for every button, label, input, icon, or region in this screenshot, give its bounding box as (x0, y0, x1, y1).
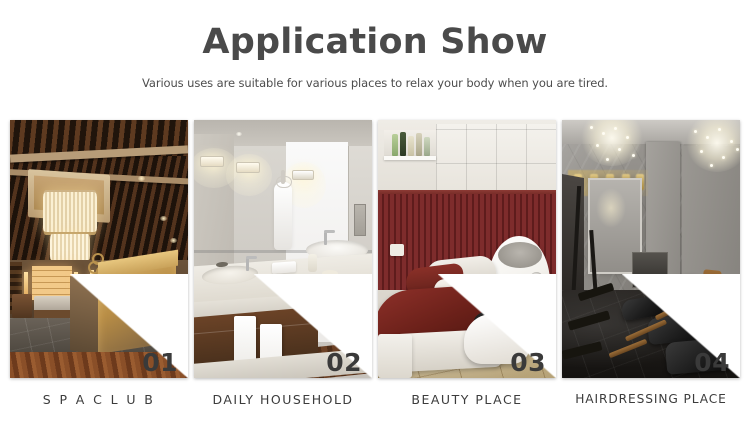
application-card-2[interactable]: 02 DAILY HOUSEHOLD (194, 120, 372, 407)
chandelier-crystals (586, 124, 642, 168)
shoji-screen (32, 266, 72, 300)
amenity-dish (322, 270, 338, 277)
pendant-lantern-top (43, 190, 97, 235)
application-cards-row: 01 S P A C L U B (0, 120, 750, 407)
page-subtitle: Various uses are suitable for various pl… (0, 76, 750, 90)
card-number-badge: 01 (142, 350, 178, 375)
application-card-4[interactable]: 04 HAIRDRESSING PLACE (562, 120, 740, 407)
light-glow-2 (226, 154, 272, 196)
section-header: Application Show Various uses are suitab… (0, 0, 750, 90)
hairdressing-place-salon-photo[interactable]: 04 (562, 120, 740, 378)
application-show-section: Application Show Various uses are suitab… (0, 0, 750, 438)
spa-club-scene (10, 120, 188, 378)
downlight-icon (160, 216, 167, 221)
product-bottle-5 (424, 137, 430, 156)
chandelier-crystals (692, 126, 740, 174)
folded-towels (272, 261, 296, 274)
faucet-reflection (324, 232, 327, 245)
product-bottle-2 (400, 132, 406, 156)
pendant-lantern-middle (50, 234, 90, 262)
application-card-3[interactable]: 03 BEAUTY PLACE (378, 120, 556, 407)
floor-light-glow (106, 296, 162, 306)
beauty-place-shampoo-bed-photo[interactable]: 03 (378, 120, 556, 378)
card-caption: S P A C L U B (10, 392, 188, 407)
wall-niche (354, 204, 366, 236)
shampoo-bowl-knob (530, 272, 543, 285)
hairdressing-salon-scene (562, 120, 740, 378)
bathroom-scene (194, 120, 372, 378)
card-number-badge: 04 (694, 350, 730, 375)
wall-sconce-2 (236, 162, 260, 173)
lobby-armchair (12, 294, 32, 318)
floor-jar (542, 306, 554, 332)
hanging-bathrobe (274, 182, 292, 250)
shampoo-bowl-inner (498, 242, 542, 268)
vanity-faucet (246, 258, 249, 271)
card-number-badge: 02 (326, 350, 362, 375)
wall-tile-panels (436, 124, 556, 198)
amenity-bottle (308, 254, 317, 272)
application-card-1[interactable]: 01 S P A C L U B (10, 120, 188, 407)
card-caption: HAIRDRESSING PLACE (562, 392, 740, 406)
wall-sconce-3 (292, 170, 314, 180)
wall-outlet (390, 244, 404, 256)
page-title: Application Show (0, 22, 750, 62)
card-number-badge: 03 (510, 350, 546, 375)
spa-club-lobby-photo[interactable]: 01 (10, 120, 188, 378)
downlight-icon (170, 238, 177, 243)
product-bottle-4 (416, 133, 422, 156)
wall-sconce-1 (200, 156, 224, 167)
product-bottle-1 (392, 134, 398, 156)
daily-household-bathroom-photo[interactable]: 02 (194, 120, 372, 378)
salon-trolley (378, 334, 412, 378)
downlight-icon (138, 176, 145, 181)
beauty-salon-scene (378, 120, 556, 378)
card-caption: BEAUTY PLACE (378, 392, 556, 407)
ceiling-spotlight-icon (236, 132, 242, 136)
product-bottle-3 (408, 136, 414, 156)
card-caption: DAILY HOUSEHOLD (194, 392, 372, 407)
product-shelf-ledge (384, 156, 436, 160)
